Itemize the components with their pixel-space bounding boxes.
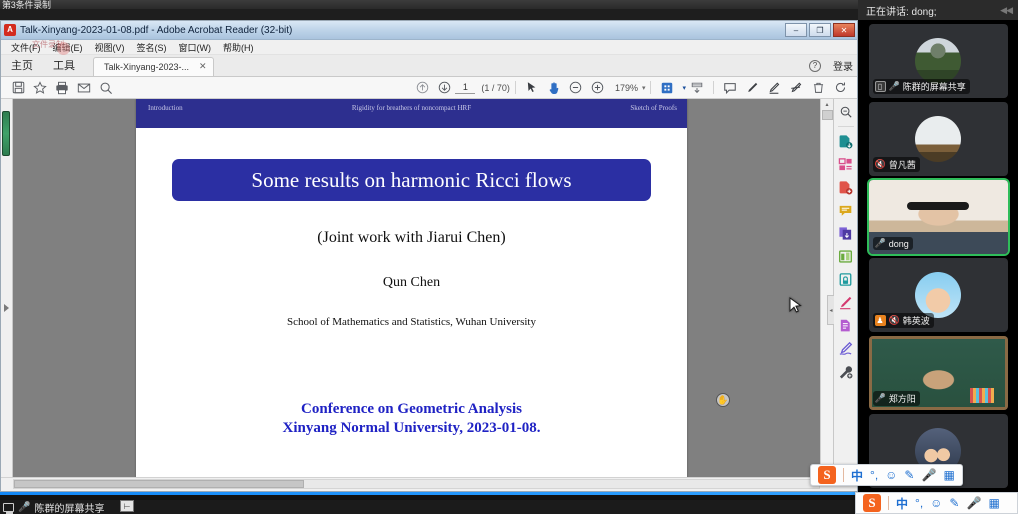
compress-pdf-icon[interactable] [837,247,855,265]
participant-name-badge: ♟ 🔇 韩英波 [873,313,934,328]
slide-header-left: Introduction [148,104,183,112]
window-controls: – ❐ ✕ [785,23,855,37]
previous-page-icon[interactable] [411,79,433,97]
print-icon[interactable] [51,79,73,97]
avatar [915,38,961,84]
tab-home[interactable]: 主页 [1,55,43,76]
participant-name: 郑方阳 [889,392,916,405]
slide-header-right: Sketch of Proofs [630,104,677,112]
slide-conference-line2: Xinyang Normal University, 2023-01-08. [136,419,687,438]
request-signature-icon[interactable] [837,339,855,357]
acrobat-toolbar: 1 (1 / 70) 179% ▾ ▾ [1,77,857,99]
protect-pdf-icon[interactable] [837,270,855,288]
conference-panel: 正在讲话: dong; ◀◀ ▯ 🎤 陈群的屏幕共享 🔇 曾凡茜 🎤 [858,0,1018,514]
left-navigation-rail[interactable] [1,99,13,477]
voice-input-icon[interactable]: 🎤 [921,468,936,482]
microphone-on-icon: 🎤 [875,238,886,249]
horizontal-scrollbar[interactable] [13,479,820,489]
acrobat-titlebar: A Talk-Xinyang-2023-01-08.pdf - Adobe Ac… [1,21,857,40]
slide-header-center: Rigidity for breathers of noncompact HRF [352,104,471,112]
chinese-mode-icon[interactable]: 中 [896,495,908,512]
slide-author: Qun Chen [136,275,687,291]
close-button[interactable]: ✕ [833,23,855,37]
page-vertical-scrollbar[interactable]: ▴ ▾ [820,99,833,477]
strikethrough-icon[interactable] [785,79,807,97]
participant-name-badge: 🔇 曾凡茜 [873,157,920,172]
ime-floating-bar[interactable]: S 中 °, ☺ ✎ 🎤 ▦ [810,464,963,486]
acrobat-tabstrip: 主页 工具 Talk-Xinyang-2023-... ✕ ? 登录 [1,55,857,77]
ime-divider [888,496,889,510]
punctuation-mode-icon[interactable]: °, [915,496,923,510]
participant-name-badge: ▯ 🎤 陈群的屏幕共享 [873,79,970,94]
restore-button[interactable]: ❐ [809,23,831,37]
star-icon[interactable] [29,79,51,97]
trash-icon[interactable] [807,79,829,97]
search-rail-icon[interactable] [837,103,855,121]
pen-icon[interactable]: ✎ [949,496,959,510]
recording-green-marker [2,111,10,156]
microphone-icon: 🎤 [18,502,30,513]
sogou-logo-icon[interactable]: S [863,494,881,512]
participant-name: dong [889,239,909,249]
comment-icon[interactable] [719,79,741,97]
acrobat-status-bar [1,477,857,491]
ime-divider [843,468,844,482]
emoji-icon[interactable]: ☺ [885,468,897,482]
document-tab-label: Talk-Xinyang-2023-... [104,62,189,72]
microphone-muted-icon: 🔇 [875,159,886,170]
read-mode-icon[interactable] [686,79,708,97]
fill-sign-icon[interactable] [837,293,855,311]
more-tools-icon[interactable] [837,362,855,380]
active-speaker-bar: 正在讲话: dong; ◀◀ [858,0,1018,20]
screen-share-border [0,492,858,500]
participant-name: 陈群的屏幕共享 [903,80,966,93]
underline-icon[interactable] [763,79,785,97]
signin-button[interactable]: 登录 [833,58,853,73]
recording-overlay-dot [57,42,70,55]
email-icon[interactable] [73,79,95,97]
collapse-panel-icon[interactable]: ◀◀ [1000,5,1012,16]
comment-rail-icon[interactable] [837,201,855,219]
window-title: Talk-Xinyang-2023-01-08.pdf - Adobe Acro… [20,25,292,36]
participant-tile[interactable]: 🔇 曾凡茜 [869,102,1008,176]
page-count-label: (1 / 70) [481,83,510,93]
slide-affiliation: School of Mathematics and Statistics, Wu… [136,316,687,328]
pen-icon[interactable]: ✎ [904,468,914,482]
scroll-thumb[interactable] [822,110,833,120]
pdf-page-area[interactable]: Introduction Rigidity for breathers of n… [13,99,820,477]
slide-conference-line1: Conference on Geometric Analysis [136,400,687,419]
help-icon[interactable]: ? [809,60,821,72]
zoom-level-label[interactable]: 179% [615,83,638,93]
punctuation-mode-icon[interactable]: °, [870,468,878,482]
select-cursor-icon[interactable] [521,79,543,97]
acrobat-window: A Talk-Xinyang-2023-01-08.pdf - Adobe Ac… [0,20,858,492]
participant-name-badge: 🎤 dong [873,237,913,250]
menu-help[interactable]: 帮助(H) [217,41,260,54]
participant-name: 韩英波 [903,314,930,327]
slide-title-banner: Some results on harmonic Ricci flows [172,159,651,201]
microphone-on-icon: 🎤 [889,81,900,92]
organize-pages-icon[interactable] [837,155,855,173]
expand-sidebar-icon[interactable] [4,304,9,312]
host-icon: ♟ [875,315,886,326]
slide-joint-work: (Joint work with Jiarui Chen) [136,229,687,247]
right-tool-rail: ◂ [833,99,857,477]
emoji-icon[interactable]: ☺ [930,496,942,510]
toolbar-divider-3 [713,81,714,94]
participant-tile[interactable]: ▯ 🎤 陈群的屏幕共享 [869,24,1008,98]
horizontal-scroll-thumb[interactable] [14,480,304,488]
rotate-icon[interactable] [829,79,851,97]
voice-input-icon[interactable]: 🎤 [966,496,981,510]
screen-share-icon: ▯ [875,81,886,92]
scroll-up-icon[interactable]: ▴ [821,99,833,110]
hand-tool-icon[interactable] [543,79,565,97]
slide-conference: Conference on Geometric Analysis Xinyang… [136,400,687,438]
minimize-button[interactable]: – [785,23,807,37]
screen-root: 第3条件录制 A Talk-Xinyang-2023-01-08.pdf - A… [0,0,1018,514]
screen-share-highlight [0,492,858,495]
slide-header-bar-lower [136,117,687,128]
highlight-icon[interactable] [741,79,763,97]
combine-files-icon[interactable] [837,224,855,242]
desktop-under-strip [0,9,858,20]
microphone-muted-icon: 🔇 [889,315,900,326]
stamp-icon[interactable] [837,316,855,334]
page-number-input[interactable]: 1 [455,81,475,94]
sogou-logo-icon[interactable]: S [818,466,836,484]
hand-cursor-icon: ✋ [716,393,730,407]
export-pdf-icon[interactable] [837,132,855,150]
menu-view[interactable]: 视图(V) [89,41,131,54]
toolbox-icon[interactable]: ▦ [988,496,999,510]
pdf-slide: Introduction Rigidity for breathers of n… [136,99,687,477]
participant-tile-active[interactable]: 🎤 dong [869,180,1008,254]
toolbar-divider-2 [650,81,651,94]
fit-page-icon[interactable] [656,79,678,97]
save-icon[interactable] [7,79,29,97]
taskbar-toggle-icon[interactable]: ⊢ [120,500,134,512]
screen-share-icon [3,503,14,512]
zoom-out-icon[interactable] [565,79,587,97]
toolbox-icon[interactable]: ▦ [943,468,954,482]
chevron-down-icon[interactable]: ▾ [642,84,646,92]
slide-header-bar: Introduction Rigidity for breathers of n… [136,99,687,117]
next-page-icon[interactable] [433,79,455,97]
search-icon[interactable] [95,79,117,97]
avatar [915,116,961,162]
rail-divider [838,126,854,127]
participant-tile[interactable]: ♟ 🔇 韩英波 [869,258,1008,332]
toolbar-divider [515,81,516,94]
chinese-mode-icon[interactable]: 中 [851,467,863,484]
close-icon[interactable]: ✕ [199,61,207,72]
status-dropdown-icon[interactable]: ▾ [36,502,40,511]
zoom-in-icon[interactable] [587,79,609,97]
tabstrip-right-group: ? 登录 [809,58,853,73]
microphone-on-icon: 🎤 [875,393,886,404]
participant-tile[interactable]: 🎤 郑方阳 [869,336,1008,410]
document-tab[interactable]: Talk-Xinyang-2023-... ✕ [93,57,214,76]
active-speaker-label: 正在讲话: dong; [866,3,937,18]
participant-name-badge: 🎤 郑方阳 [873,391,920,406]
participant-name: 曾凡茜 [889,158,916,171]
acrobat-logo-icon: A [4,24,16,36]
recording-strip: 第3条件录制 [0,0,858,9]
menu-window[interactable]: 窗口(W) [173,41,218,54]
acrobat-menubar: 文件(F) 编辑(E) 视图(V) 签名(S) 窗口(W) 帮助(H) 文件录制 [1,40,857,55]
ime-taskbar-bar[interactable]: S 中 °, ☺ ✎ 🎤 ▦ [855,492,1018,514]
menu-sign[interactable]: 签名(S) [131,41,173,54]
avatar [915,272,961,318]
acrobat-body: Introduction Rigidity for breathers of n… [1,99,857,477]
collapse-rail-icon[interactable]: ◂ [827,295,834,325]
screen-share-label: 陈群的屏幕共享 [34,500,104,514]
tab-tools[interactable]: 工具 [43,55,85,76]
create-pdf-icon[interactable] [837,178,855,196]
